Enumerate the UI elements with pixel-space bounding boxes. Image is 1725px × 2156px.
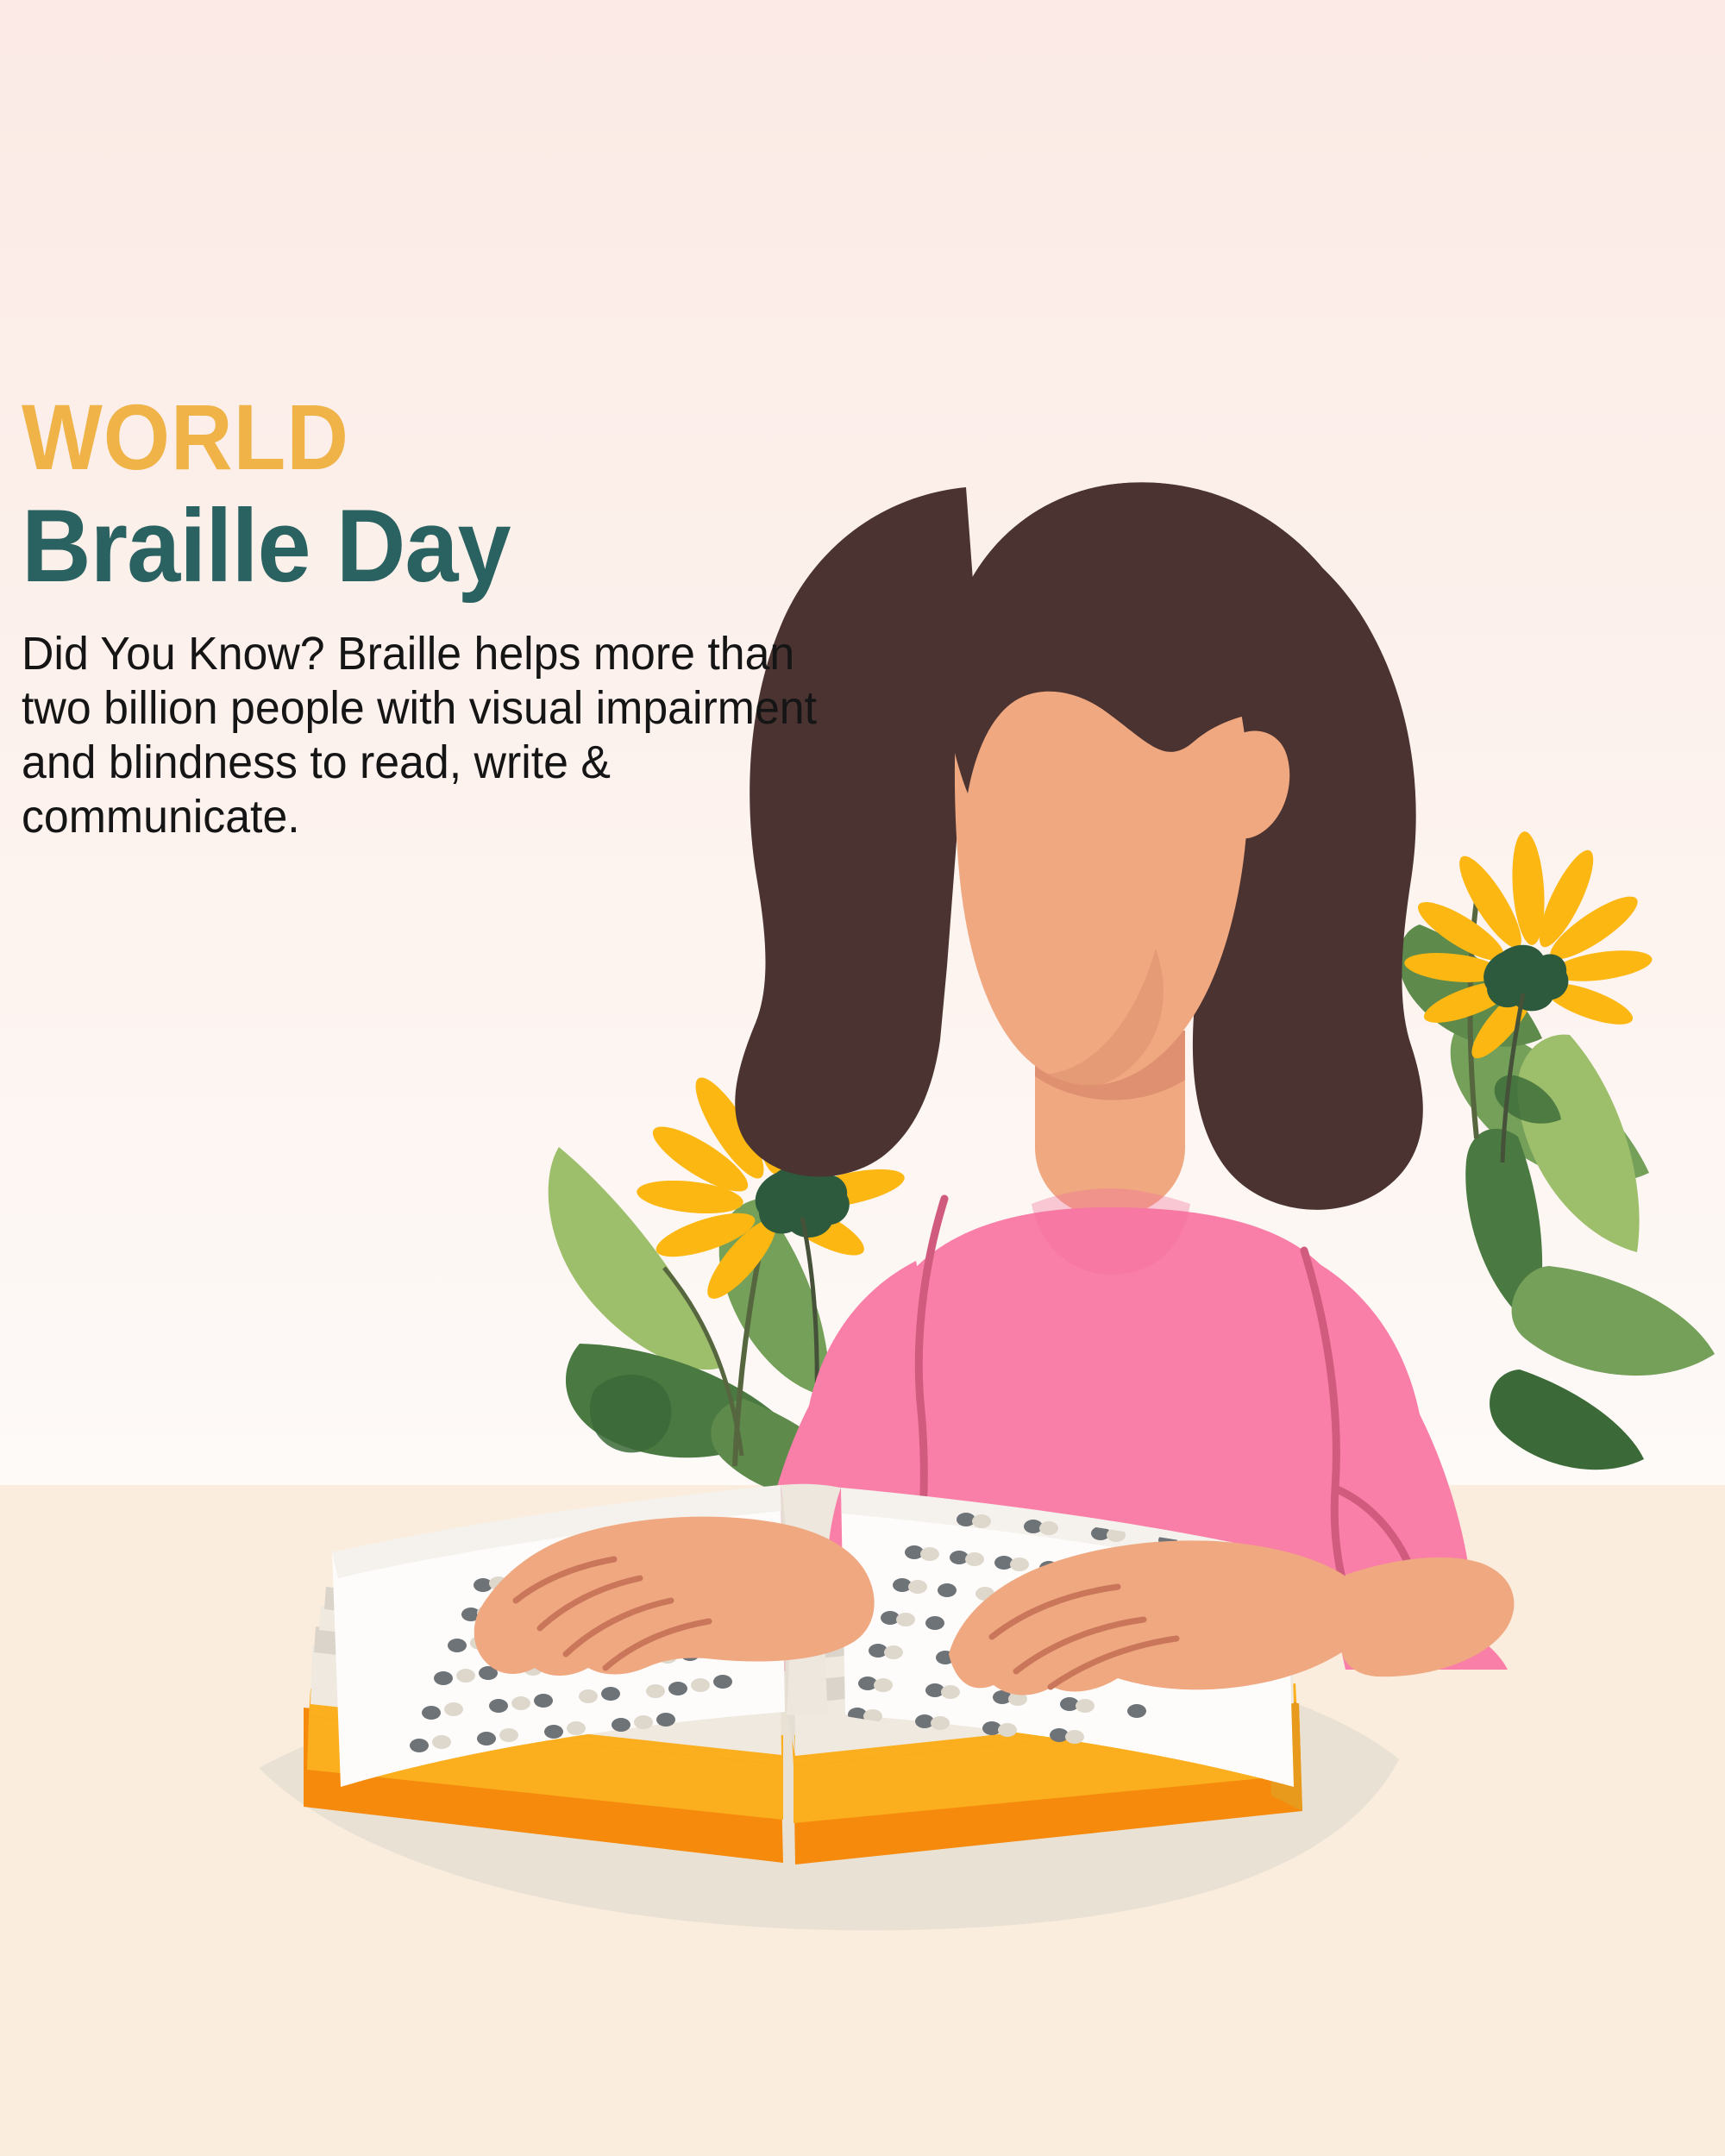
text-block: WORLD Braille Day Did You Know? Braille …: [22, 392, 936, 844]
body-paragraph: Did You Know? Braille helps more than tw…: [22, 627, 858, 845]
page-title: Braille Day: [22, 494, 872, 598]
kicker-world: WORLD: [22, 392, 862, 482]
poster-canvas: WORLD Braille Day Did You Know? Braille …: [0, 0, 1725, 2156]
illustration: [0, 0, 1725, 2156]
